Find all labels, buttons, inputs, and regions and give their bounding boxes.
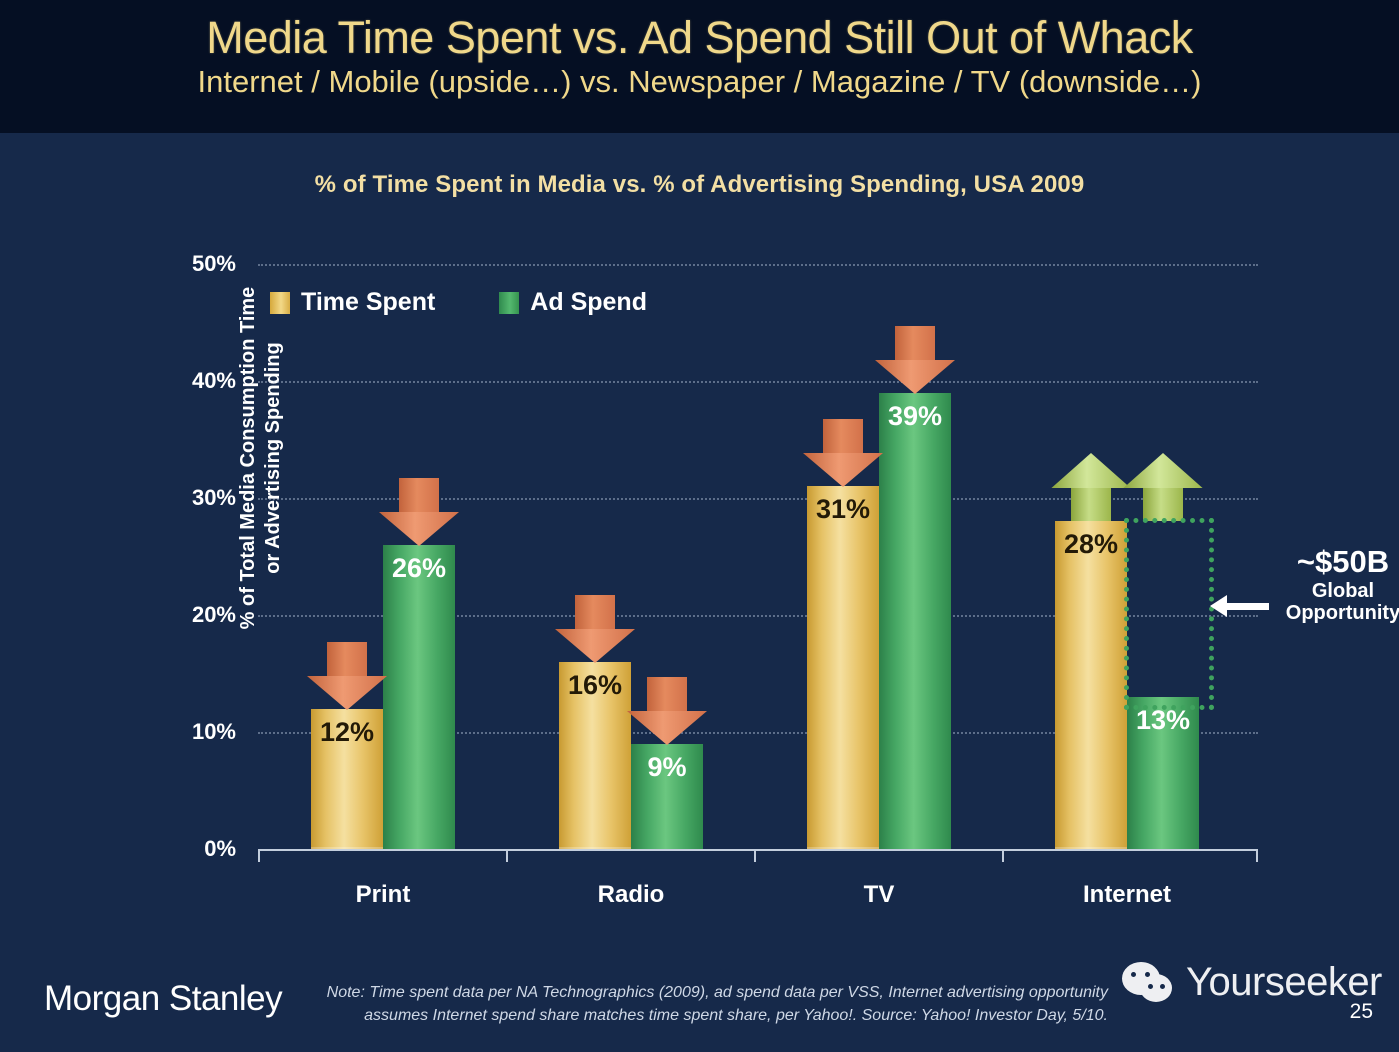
morgan-stanley-logo: Morgan Stanley bbox=[44, 979, 282, 1019]
bar-value-print-time-spent: 12% bbox=[311, 717, 383, 748]
callout-text: ~$50B Global Opportunity bbox=[1253, 545, 1399, 625]
slide-header-band: Media Time Spent vs. Ad Spend Still Out … bbox=[0, 0, 1399, 133]
arrow-up-internet-time-spent-icon bbox=[1051, 453, 1131, 521]
x-axis-tick-4 bbox=[1256, 849, 1258, 862]
x-axis-tick-2 bbox=[754, 849, 756, 862]
legend-label-time-spent: Time Spent bbox=[301, 288, 435, 317]
arrow-down-print-time-spent-icon bbox=[307, 642, 387, 710]
slide-title: Media Time Spent vs. Ad Spend Still Out … bbox=[0, 0, 1399, 62]
watermark: Yourseeker bbox=[1122, 960, 1382, 1005]
y-tick-label-0: 0% bbox=[146, 836, 236, 862]
bar-tv-ad-spend[interactable]: 39% bbox=[879, 393, 951, 849]
wechat-icon bbox=[1122, 962, 1178, 1004]
x-axis-tick-0 bbox=[258, 849, 260, 862]
callout-line3: Opportunity bbox=[1253, 602, 1399, 624]
category-label-internet: Internet bbox=[1047, 881, 1207, 909]
bar-print-ad-spend[interactable]: 26% bbox=[383, 545, 455, 849]
legend-swatch-green-icon bbox=[499, 292, 519, 314]
opportunity-box bbox=[1124, 518, 1214, 710]
chart-plot-area: % of Total Media Consumption Time or Adv… bbox=[258, 133, 1258, 1052]
bar-print-time-spent[interactable]: 12% bbox=[311, 709, 383, 849]
y-tick-label-10: 10% bbox=[146, 719, 236, 745]
x-axis-tick-3 bbox=[1002, 849, 1004, 862]
watermark-text: Yourseeker bbox=[1186, 960, 1382, 1005]
callout-amount: ~$50B bbox=[1253, 545, 1399, 580]
y-axis-title-line1: % of Total Media Consumption Time bbox=[237, 287, 259, 630]
callout-line2: Global bbox=[1253, 580, 1399, 602]
legend-label-ad-spend: Ad Spend bbox=[530, 288, 647, 317]
category-label-tv: TV bbox=[799, 881, 959, 909]
x-axis-tick-1 bbox=[506, 849, 508, 862]
arrow-down-radio-ad-spend-icon bbox=[627, 677, 707, 745]
gridline-50 bbox=[258, 264, 1258, 266]
bar-internet-time-spent[interactable]: 28% bbox=[1055, 521, 1127, 849]
category-label-radio: Radio bbox=[551, 881, 711, 909]
arrow-down-tv-time-spent-icon bbox=[803, 419, 883, 487]
footnote-line2: spend share matches time spent share, pe… bbox=[491, 1007, 1108, 1024]
bar-radio-time-spent[interactable]: 16% bbox=[559, 662, 631, 849]
bar-radio-ad-spend[interactable]: 9% bbox=[631, 744, 703, 849]
page-number: 25 bbox=[1350, 1000, 1373, 1024]
arrow-up-internet-ad-spend-icon bbox=[1123, 453, 1203, 521]
arrow-down-tv-ad-spend-icon bbox=[875, 326, 955, 394]
gridline-40 bbox=[258, 381, 1258, 383]
bar-value-tv-ad-spend: 39% bbox=[879, 401, 951, 432]
arrow-down-radio-time-spent-icon bbox=[555, 595, 635, 663]
y-tick-label-20: 20% bbox=[146, 602, 236, 628]
legend-swatch-gold-icon bbox=[270, 292, 290, 314]
bar-value-internet-time-spent: 28% bbox=[1055, 529, 1127, 560]
y-axis-title-line2: or Advertising Spending bbox=[262, 342, 284, 574]
slide-subtitle: Internet / Mobile (upside…) vs. Newspape… bbox=[0, 62, 1399, 99]
x-axis-line bbox=[258, 849, 1258, 851]
legend-item-time-spent[interactable]: Time Spent bbox=[270, 288, 435, 317]
slide-body: % of Time Spent in Media vs. % of Advert… bbox=[0, 133, 1399, 1052]
bar-value-print-ad-spend: 26% bbox=[383, 553, 455, 584]
chart-legend: Time Spent Ad Spend bbox=[270, 288, 647, 317]
category-label-print: Print bbox=[303, 881, 463, 909]
legend-item-ad-spend[interactable]: Ad Spend bbox=[499, 288, 647, 317]
footnote: Note: Time spent data per NA Technograph… bbox=[318, 981, 1108, 1027]
bar-value-tv-time-spent: 31% bbox=[807, 494, 879, 525]
bar-tv-time-spent[interactable]: 31% bbox=[807, 486, 879, 849]
y-tick-label-50: 50% bbox=[146, 251, 236, 277]
y-tick-label-30: 30% bbox=[146, 485, 236, 511]
arrow-down-print-ad-spend-icon bbox=[379, 478, 459, 546]
bar-value-radio-time-spent: 16% bbox=[559, 670, 631, 701]
bar-value-radio-ad-spend: 9% bbox=[631, 752, 703, 783]
bar-internet-ad-spend[interactable]: 13% bbox=[1127, 697, 1199, 849]
y-tick-label-40: 40% bbox=[146, 368, 236, 394]
